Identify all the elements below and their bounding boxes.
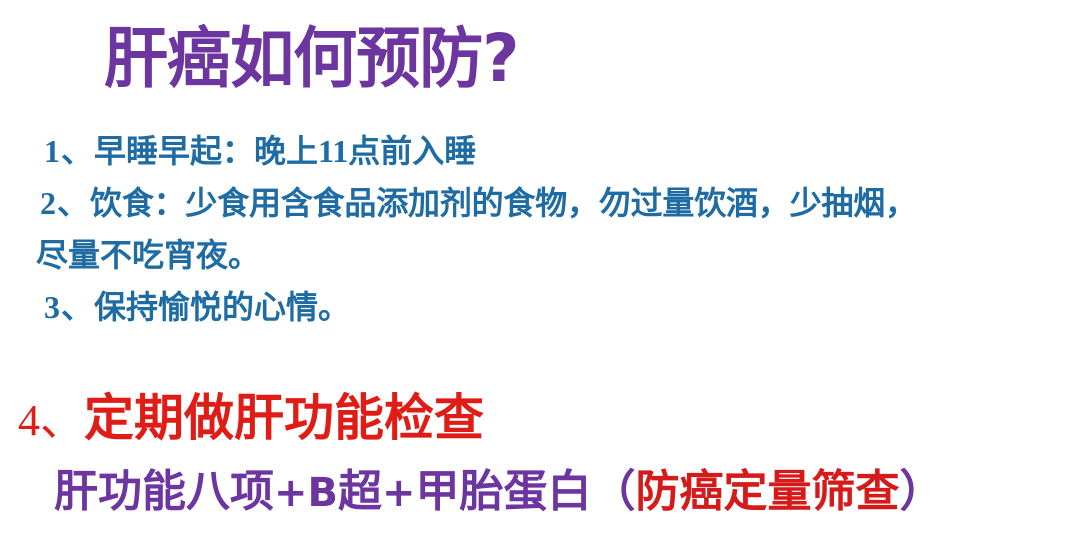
- paren-open: （: [592, 467, 636, 516]
- section-heading-checkup: 4、定期做肝功能检查: [18, 390, 484, 449]
- list-item-number: 1、: [44, 133, 94, 169]
- b-ultrasound-label: 超: [338, 467, 382, 516]
- list-item: 1、早睡早起：晚上11点前入睡: [0, 125, 1080, 177]
- section-heading-number: 4、: [18, 396, 84, 445]
- b-ultrasound-letter: B: [308, 470, 339, 516]
- afp-label: 甲胎蛋白: [416, 467, 592, 516]
- slide-canvas: 肝癌如何预防? 1、早睡早起：晚上11点前入睡 2、饮食：少食用含食品添加剂的食…: [0, 0, 1080, 537]
- paren-close: ）: [900, 467, 944, 516]
- checkup-panel-label: 肝功能八项: [54, 467, 274, 516]
- list-item-text: 保持愉悦的心情。: [94, 289, 350, 325]
- plus-sign-1: +: [274, 470, 308, 516]
- list-item: 2、饮食：少食用含食品添加剂的食物，勿过量饮酒，少抽烟，: [0, 177, 1080, 229]
- list-item-text: 饮食：少食用含食品添加剂的食物，勿过量饮酒，少抽烟，: [90, 185, 917, 221]
- list-item: 3、保持愉悦的心情。: [0, 281, 1080, 333]
- list-item-text: 早睡早起：晚上11点前入睡: [94, 133, 476, 169]
- plus-sign-2: +: [382, 470, 416, 516]
- list-item-continuation: 尽量不吃宵夜。: [0, 229, 1080, 281]
- section-heading-text: 定期做肝功能检查: [84, 389, 484, 447]
- list-item-number: 3、: [44, 289, 94, 325]
- page-title: 肝癌如何预防?: [104, 17, 518, 101]
- list-item-number: 2、: [40, 185, 90, 221]
- list-item-text: 尽量不吃宵夜。: [36, 237, 260, 273]
- screening-note: 防癌定量筛查: [636, 467, 900, 516]
- checkup-detail-line: 肝功能八项+B超+甲胎蛋白（防癌定量筛查）: [54, 463, 944, 522]
- prevention-list: 1、早睡早起：晚上11点前入睡 2、饮食：少食用含食品添加剂的食物，勿过量饮酒，…: [0, 125, 1080, 333]
